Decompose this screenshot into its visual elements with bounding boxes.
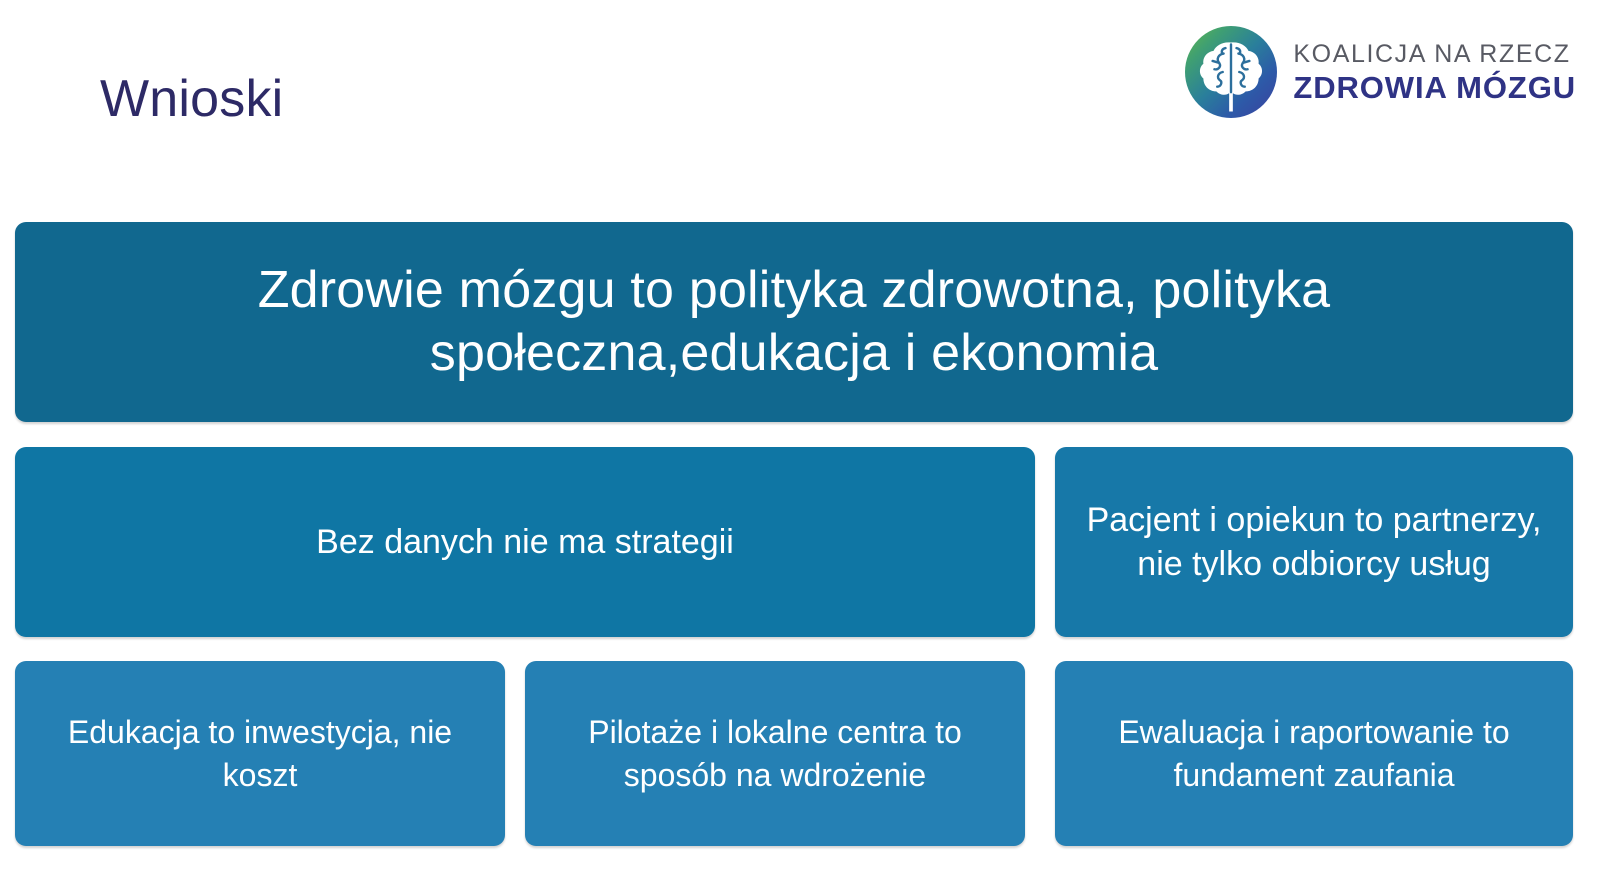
logo-line-1: KOALICJA NA RZECZ: [1293, 42, 1576, 67]
conclusion-card-patient-text: Pacjent i opiekun to partnerzy, nie tylk…: [1085, 498, 1543, 586]
page-title: Wnioski: [100, 71, 283, 128]
conclusion-card-pilots: Pilotaże i lokalne centra to sposób na w…: [525, 661, 1025, 846]
logo-wordmark: KOALICJA NA RZECZ ZDROWIA MÓZGU: [1293, 42, 1576, 103]
conclusion-banner-text: Zdrowie mózgu to polityka zdrowotna, pol…: [75, 259, 1513, 386]
organization-logo: KOALICJA NA RZECZ ZDROWIA MÓZGU: [1185, 26, 1576, 118]
logo-line-2: ZDROWIA MÓZGU: [1293, 72, 1576, 103]
brain-circle-icon: [1185, 26, 1277, 118]
conclusion-banner: Zdrowie mózgu to polityka zdrowotna, pol…: [15, 222, 1573, 422]
slide-canvas: Wnioski KOALICJ: [0, 0, 1600, 893]
conclusion-card-evaluation-text: Ewaluacja i raportowanie to fundament za…: [1077, 711, 1551, 795]
conclusion-card-education-text: Edukacja to inwestycja, nie koszt: [33, 711, 487, 795]
conclusion-card-evaluation: Ewaluacja i raportowanie to fundament za…: [1055, 661, 1573, 846]
conclusion-card-data: Bez danych nie ma strategii: [15, 447, 1035, 637]
conclusion-card-pilots-text: Pilotaże i lokalne centra to sposób na w…: [547, 711, 1003, 795]
conclusion-card-data-text: Bez danych nie ma strategii: [37, 520, 1013, 564]
conclusion-card-education: Edukacja to inwestycja, nie koszt: [15, 661, 505, 846]
conclusion-card-patient: Pacjent i opiekun to partnerzy, nie tylk…: [1055, 447, 1573, 637]
